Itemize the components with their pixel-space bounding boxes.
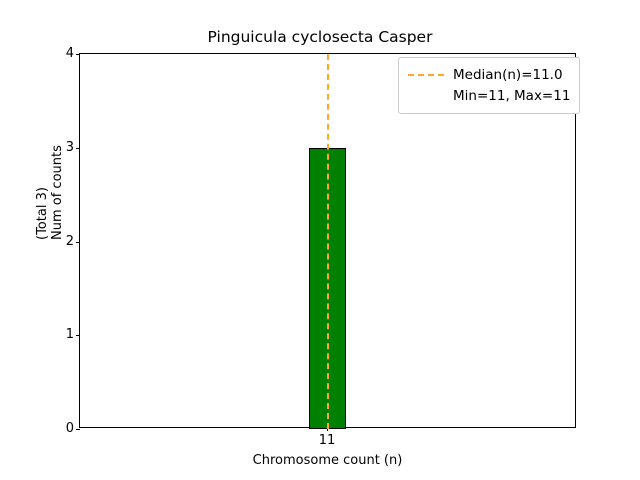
blank-marker-icon: [408, 89, 444, 103]
y-axis-label: Num of counts: [50, 145, 65, 240]
legend: Median(n)=11.0 Min=11, Max=11: [398, 57, 580, 114]
legend-label: Min=11, Max=11: [453, 88, 570, 104]
ytick-mark: [76, 242, 80, 243]
chart-title: Pinguicula cyclosecta Casper: [0, 28, 640, 46]
legend-label: Median(n)=11.0: [453, 67, 563, 83]
ytick-mark: [76, 335, 80, 336]
xtick-label: 11: [287, 433, 367, 449]
legend-entry-minmax: Min=11, Max=11: [408, 85, 570, 106]
ytick-mark: [76, 148, 80, 149]
dashed-line-icon: [408, 68, 444, 82]
ytick-label: 2: [66, 233, 74, 251]
ytick-label: 3: [66, 139, 74, 157]
ytick-label: 1: [66, 326, 74, 344]
ytick-label: 0: [66, 420, 74, 438]
x-axis-label: Chromosome count (n): [79, 453, 576, 468]
ytick-mark: [76, 429, 80, 430]
y-axis-label-secondary: (Total 3): [35, 187, 50, 240]
ytick-mark: [76, 54, 80, 55]
chart-figure: Pinguicula cyclosecta Casper 0 1 2 3 4 1…: [0, 0, 640, 480]
legend-entry-median: Median(n)=11.0: [408, 64, 570, 85]
median-line: [327, 54, 329, 429]
ytick-label: 4: [66, 45, 74, 63]
